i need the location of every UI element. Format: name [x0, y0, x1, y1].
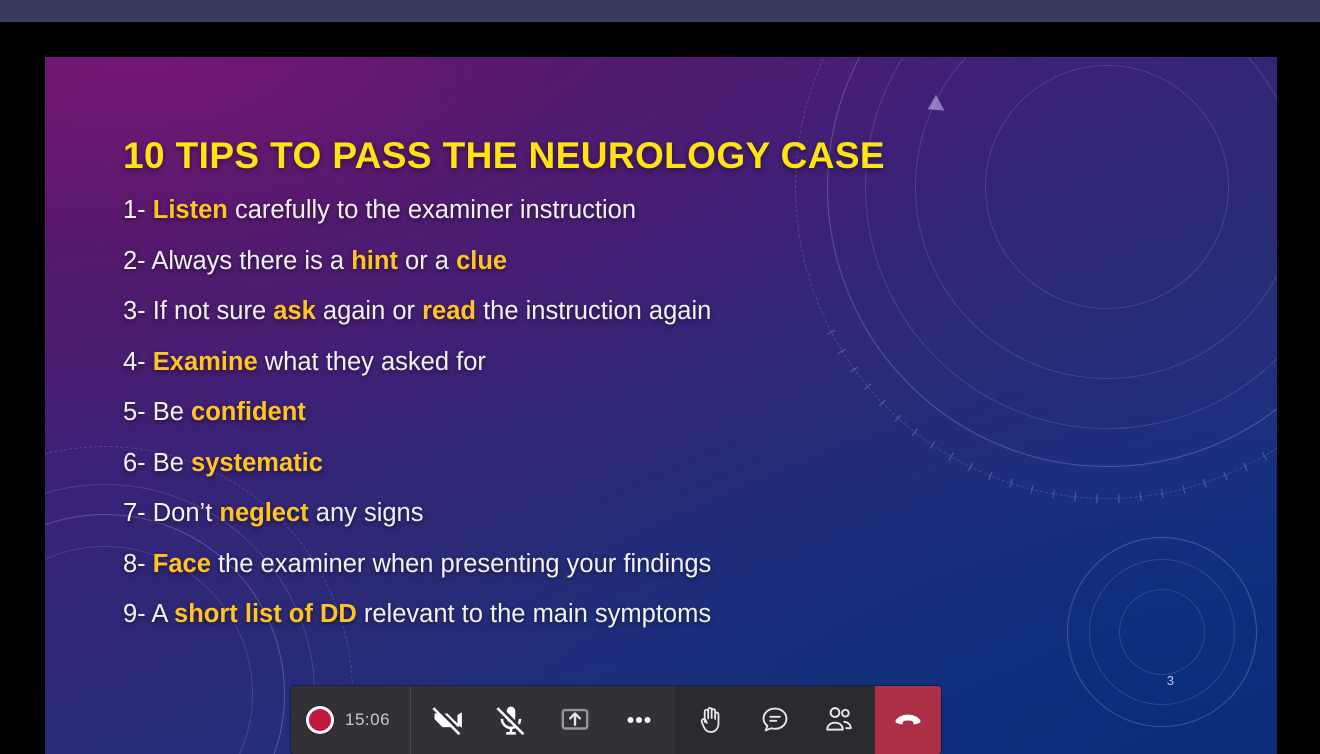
- bullet-highlight: hint: [351, 247, 398, 275]
- slide-bullet-9: 9- A short list of DD relevant to the ma…: [123, 589, 1173, 640]
- slide-bullet-list: 1- Listen carefully to the examiner inst…: [123, 185, 1173, 640]
- bullet-number: 1-: [123, 196, 153, 224]
- recording-indicator: 15:06: [309, 709, 404, 731]
- top-strip-ghost-text: · · · · · · ·: [0, 0, 1320, 6]
- bullet-highlight: systematic: [191, 449, 323, 477]
- bullet-text: Don’t: [153, 499, 220, 527]
- bullet-highlight: clue: [456, 247, 507, 275]
- bullet-text: relevant to the main symptoms: [357, 600, 711, 628]
- bullet-number: 4-: [123, 348, 153, 376]
- more-options-button[interactable]: [607, 686, 671, 754]
- raised-hand-icon: [695, 704, 727, 736]
- participants-button[interactable]: [807, 686, 871, 754]
- bullet-number: 3-: [123, 297, 153, 325]
- bullet-number: 5-: [123, 398, 153, 426]
- slide-bullet-2: 2- Always there is a hint or a clue: [123, 236, 1173, 287]
- bullet-number: 2-: [123, 247, 151, 275]
- camera-off-button[interactable]: [415, 686, 479, 754]
- bullet-highlight: neglect: [219, 499, 308, 527]
- chat-bubble-icon: [759, 704, 791, 736]
- bullet-number: 9-: [123, 600, 151, 628]
- shared-slide: 10 TIPS TO PASS THE NEUROLOGY CASE 1- Li…: [45, 57, 1277, 754]
- bullet-text: A: [151, 600, 174, 628]
- chat-button[interactable]: [743, 686, 807, 754]
- meeting-screen: · · · · · · · 10 TIPS TO PASS THE: [0, 0, 1320, 754]
- phone-hangup-icon: [891, 703, 925, 737]
- record-icon: [309, 709, 331, 731]
- bullet-text: the examiner when presenting your findin…: [211, 550, 711, 578]
- bullet-text: Always there is a: [151, 247, 351, 275]
- recording-segment: 15:06: [291, 686, 410, 754]
- mic-muted-icon: [494, 703, 528, 737]
- video-off-icon: [430, 703, 464, 737]
- bullet-text: or a: [398, 247, 456, 275]
- bullet-highlight: Face: [153, 550, 211, 578]
- slide-title: 10 TIPS TO PASS THE NEUROLOGY CASE: [123, 135, 885, 177]
- slide-bullet-8: 8- Face the examiner when presenting you…: [123, 539, 1173, 590]
- bullet-number: 8-: [123, 550, 153, 578]
- bullet-text: what they asked for: [258, 348, 486, 376]
- bullet-text: the instruction again: [476, 297, 711, 325]
- bullet-highlight: short list of DD: [174, 600, 357, 628]
- media-controls-segment: [410, 686, 675, 754]
- bullet-number: 6-: [123, 449, 153, 477]
- bullet-highlight: Listen: [153, 196, 228, 224]
- engagement-controls-segment: [675, 686, 875, 754]
- slide-bullet-1: 1- Listen carefully to the examiner inst…: [123, 185, 1173, 236]
- slide-bullet-7: 7- Don’t neglect any signs: [123, 488, 1173, 539]
- slide-number: 3: [1167, 673, 1174, 688]
- people-icon: [823, 704, 855, 736]
- slide-bullet-4: 4- Examine what they asked for: [123, 337, 1173, 388]
- microphone-mute-button[interactable]: [479, 686, 543, 754]
- bullet-text: again or: [316, 297, 422, 325]
- slide-bullet-6: 6- Be systematic: [123, 438, 1173, 489]
- bullet-highlight: read: [422, 297, 476, 325]
- bullet-number: 7-: [123, 499, 153, 527]
- ellipsis-icon: [622, 703, 656, 737]
- bullet-highlight: Examine: [153, 348, 258, 376]
- recording-elapsed-time: 15:06: [345, 710, 390, 730]
- raise-hand-button[interactable]: [679, 686, 743, 754]
- meeting-control-bar: 15:06: [291, 686, 941, 754]
- bullet-text: If not sure: [153, 297, 273, 325]
- share-screen-icon: [558, 703, 592, 737]
- bullet-text: Be: [153, 449, 191, 477]
- bullet-highlight: confident: [191, 398, 306, 426]
- share-screen-button[interactable]: [543, 686, 607, 754]
- bullet-text: Be: [153, 398, 191, 426]
- hang-up-button[interactable]: [875, 686, 941, 754]
- bullet-text: any signs: [309, 499, 424, 527]
- bullet-highlight: ask: [273, 297, 316, 325]
- slide-bullet-3: 3- If not sure ask again or read the ins…: [123, 286, 1173, 337]
- slide-bullet-5: 5- Be confident: [123, 387, 1173, 438]
- app-top-strip: · · · · · · ·: [0, 0, 1320, 22]
- bullet-text: carefully to the examiner instruction: [228, 196, 636, 224]
